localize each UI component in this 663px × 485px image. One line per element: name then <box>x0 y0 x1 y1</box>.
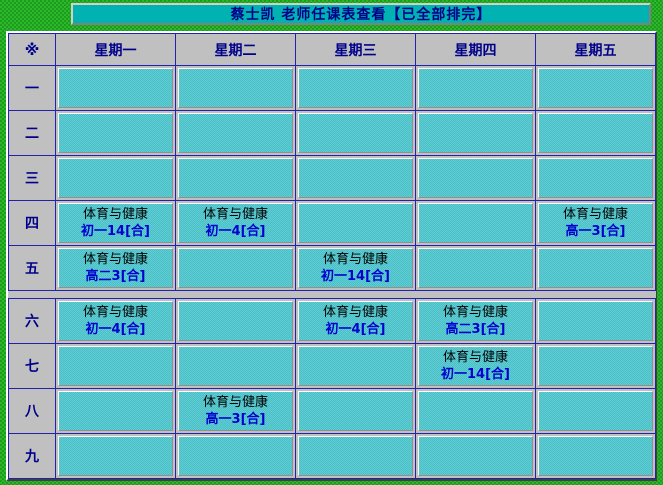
table-row: 八体育与健康高一3[合] <box>9 389 656 434</box>
schedule-cell[interactable] <box>536 246 656 291</box>
schedule-cell-box <box>538 113 653 153</box>
schedule-cell-box <box>178 113 293 153</box>
course-subject: 体育与健康 <box>83 304 148 321</box>
period-label: 九 <box>9 434 56 479</box>
schedule-cell-box <box>418 158 533 198</box>
schedule-cell[interactable] <box>536 299 656 344</box>
course-subject: 体育与健康 <box>83 206 148 223</box>
session-divider-cell <box>9 291 656 299</box>
schedule-cell[interactable] <box>536 344 656 389</box>
schedule-cell[interactable] <box>176 299 296 344</box>
schedule-cell[interactable] <box>296 201 416 246</box>
course-subject: 体育与健康 <box>443 349 508 366</box>
schedule-cell-box <box>538 436 653 476</box>
schedule-cell-box <box>538 346 653 386</box>
schedule-cell-box <box>418 391 533 431</box>
period-label: 一 <box>9 66 56 111</box>
table-row: 三 <box>9 156 656 201</box>
schedule-cell[interactable] <box>296 156 416 201</box>
course-class: 高二3[合] <box>446 321 506 338</box>
course-subject: 体育与健康 <box>203 206 268 223</box>
schedule-cell[interactable] <box>296 66 416 111</box>
schedule-cell-box <box>178 436 293 476</box>
course-class: 初一4[合] <box>326 321 386 338</box>
course-subject: 体育与健康 <box>203 394 268 411</box>
schedule-cell-box: 体育与健康初一14[合] <box>298 248 413 288</box>
header-row: ※ 星期一 星期二 星期三 星期四 星期五 <box>9 34 656 66</box>
schedule-cell[interactable] <box>536 389 656 434</box>
schedule-cell-box <box>298 113 413 153</box>
schedule-cell[interactable] <box>536 434 656 479</box>
schedule-cell[interactable] <box>416 389 536 434</box>
course-subject: 体育与健康 <box>323 251 388 268</box>
schedule-cell[interactable]: 体育与健康高一3[合] <box>176 389 296 434</box>
schedule-cell[interactable] <box>56 66 176 111</box>
schedule-cell[interactable]: 体育与健康初一4[合] <box>176 201 296 246</box>
table-row: 一 <box>9 66 656 111</box>
schedule-cell-box <box>538 391 653 431</box>
period-label: 四 <box>9 201 56 246</box>
schedule-cell-box <box>58 346 173 386</box>
window-title-bar: 蔡士凯 老师任课表查看【已全部排完】 <box>71 3 651 25</box>
schedule-cell[interactable] <box>296 344 416 389</box>
course-subject: 体育与健康 <box>83 251 148 268</box>
schedule-cell[interactable]: 体育与健康初一14[合] <box>416 344 536 389</box>
schedule-cell-box <box>58 68 173 108</box>
table-row: 五体育与健康高二3[合]体育与健康初一14[合] <box>9 246 656 291</box>
schedule-cell[interactable] <box>56 434 176 479</box>
schedule-cell-box: 体育与健康初一4[合] <box>298 301 413 341</box>
column-header-tuesday: 星期二 <box>176 34 296 66</box>
schedule-cell[interactable]: 体育与健康初一14[合] <box>296 246 416 291</box>
schedule-cell-box <box>178 158 293 198</box>
timetable-head: ※ 星期一 星期二 星期三 星期四 星期五 <box>9 34 656 66</box>
schedule-cell-box <box>418 203 533 243</box>
schedule-cell-box <box>298 391 413 431</box>
schedule-cell[interactable] <box>176 246 296 291</box>
course-subject: 体育与健康 <box>323 304 388 321</box>
timetable: ※ 星期一 星期二 星期三 星期四 星期五 一二三四体育与健康初一14[合]体育… <box>8 33 656 479</box>
schedule-cell-box: 体育与健康高一3[合] <box>178 391 293 431</box>
schedule-cell-box: 体育与健康高二3[合] <box>418 301 533 341</box>
schedule-cell-box <box>298 346 413 386</box>
schedule-cell-box <box>538 68 653 108</box>
schedule-cell-box <box>298 436 413 476</box>
schedule-cell[interactable] <box>56 344 176 389</box>
schedule-cell-box: 体育与健康高一3[合] <box>538 203 653 243</box>
schedule-cell[interactable]: 体育与健康初一4[合] <box>56 299 176 344</box>
course-subject: 体育与健康 <box>563 206 628 223</box>
schedule-cell[interactable] <box>416 156 536 201</box>
course-class: 初一4[合] <box>206 223 266 240</box>
course-class: 高一3[合] <box>566 223 626 240</box>
schedule-cell[interactable] <box>296 389 416 434</box>
timetable-body: 一二三四体育与健康初一14[合]体育与健康初一4[合]体育与健康高一3[合]五体… <box>9 66 656 479</box>
timetable-panel: ※ 星期一 星期二 星期三 星期四 星期五 一二三四体育与健康初一14[合]体育… <box>6 31 657 481</box>
schedule-cell[interactable]: 体育与健康高一3[合] <box>536 201 656 246</box>
course-subject: 体育与健康 <box>443 304 508 321</box>
schedule-cell[interactable] <box>176 434 296 479</box>
session-divider <box>9 291 656 299</box>
schedule-cell[interactable] <box>56 156 176 201</box>
schedule-cell-box <box>298 158 413 198</box>
schedule-cell-box <box>298 68 413 108</box>
schedule-cell[interactable] <box>56 111 176 156</box>
course-class: 高二3[合] <box>86 268 146 285</box>
schedule-cell-box <box>418 436 533 476</box>
schedule-cell-box <box>178 68 293 108</box>
page-title: 蔡士凯 老师任课表查看【已全部排完】 <box>231 4 492 24</box>
period-label: 六 <box>9 299 56 344</box>
column-header-friday: 星期五 <box>536 34 656 66</box>
column-header-monday: 星期一 <box>56 34 176 66</box>
schedule-cell-box: 体育与健康初一4[合] <box>178 203 293 243</box>
period-label: 七 <box>9 344 56 389</box>
schedule-cell[interactable] <box>416 111 536 156</box>
schedule-cell-box <box>538 248 653 288</box>
schedule-cell-box: 体育与健康高二3[合] <box>58 248 173 288</box>
schedule-cell-box: 体育与健康初一14[合] <box>418 346 533 386</box>
schedule-cell-box <box>58 436 173 476</box>
schedule-cell-box <box>298 203 413 243</box>
period-label: 五 <box>9 246 56 291</box>
course-class: 初一4[合] <box>86 321 146 338</box>
schedule-cell[interactable]: 体育与健康初一14[合] <box>56 201 176 246</box>
course-class: 高一3[合] <box>206 411 266 428</box>
schedule-cell[interactable] <box>176 156 296 201</box>
schedule-cell[interactable] <box>176 111 296 156</box>
schedule-cell[interactable]: 体育与健康初一4[合] <box>296 299 416 344</box>
schedule-cell-box <box>538 158 653 198</box>
schedule-cell-box <box>538 301 653 341</box>
course-class: 初一14[合] <box>441 366 510 383</box>
schedule-cell[interactable]: 体育与健康高二3[合] <box>56 246 176 291</box>
course-class: 初一14[合] <box>321 268 390 285</box>
schedule-cell-box <box>178 248 293 288</box>
schedule-cell[interactable] <box>176 66 296 111</box>
schedule-cell[interactable] <box>536 156 656 201</box>
schedule-cell[interactable] <box>296 434 416 479</box>
corner-cell: ※ <box>9 34 56 66</box>
schedule-cell[interactable] <box>536 111 656 156</box>
schedule-cell[interactable] <box>536 66 656 111</box>
schedule-cell[interactable] <box>416 434 536 479</box>
course-class: 初一14[合] <box>81 223 150 240</box>
schedule-cell-box <box>58 391 173 431</box>
schedule-cell-box <box>178 301 293 341</box>
table-row: 二 <box>9 111 656 156</box>
schedule-cell[interactable] <box>416 201 536 246</box>
schedule-cell[interactable] <box>416 66 536 111</box>
schedule-cell[interactable] <box>176 344 296 389</box>
column-header-thursday: 星期四 <box>416 34 536 66</box>
period-label: 八 <box>9 389 56 434</box>
table-row: 九 <box>9 434 656 479</box>
table-row: 七体育与健康初一14[合] <box>9 344 656 389</box>
period-label: 三 <box>9 156 56 201</box>
schedule-cell-box: 体育与健康初一14[合] <box>58 203 173 243</box>
schedule-cell-box <box>58 158 173 198</box>
asterisk-icon: ※ <box>25 41 40 59</box>
schedule-cell-box <box>418 113 533 153</box>
schedule-cell-box <box>178 346 293 386</box>
schedule-cell-box: 体育与健康初一4[合] <box>58 301 173 341</box>
column-header-wednesday: 星期三 <box>296 34 416 66</box>
schedule-cell[interactable] <box>296 111 416 156</box>
table-row: 六体育与健康初一4[合]体育与健康初一4[合]体育与健康高二3[合] <box>9 299 656 344</box>
period-label: 二 <box>9 111 56 156</box>
schedule-cell[interactable] <box>416 246 536 291</box>
schedule-cell-box <box>418 248 533 288</box>
schedule-cell-box <box>418 68 533 108</box>
schedule-cell[interactable]: 体育与健康高二3[合] <box>416 299 536 344</box>
schedule-cell-box <box>58 113 173 153</box>
schedule-cell[interactable] <box>56 389 176 434</box>
table-row: 四体育与健康初一14[合]体育与健康初一4[合]体育与健康高一3[合] <box>9 201 656 246</box>
